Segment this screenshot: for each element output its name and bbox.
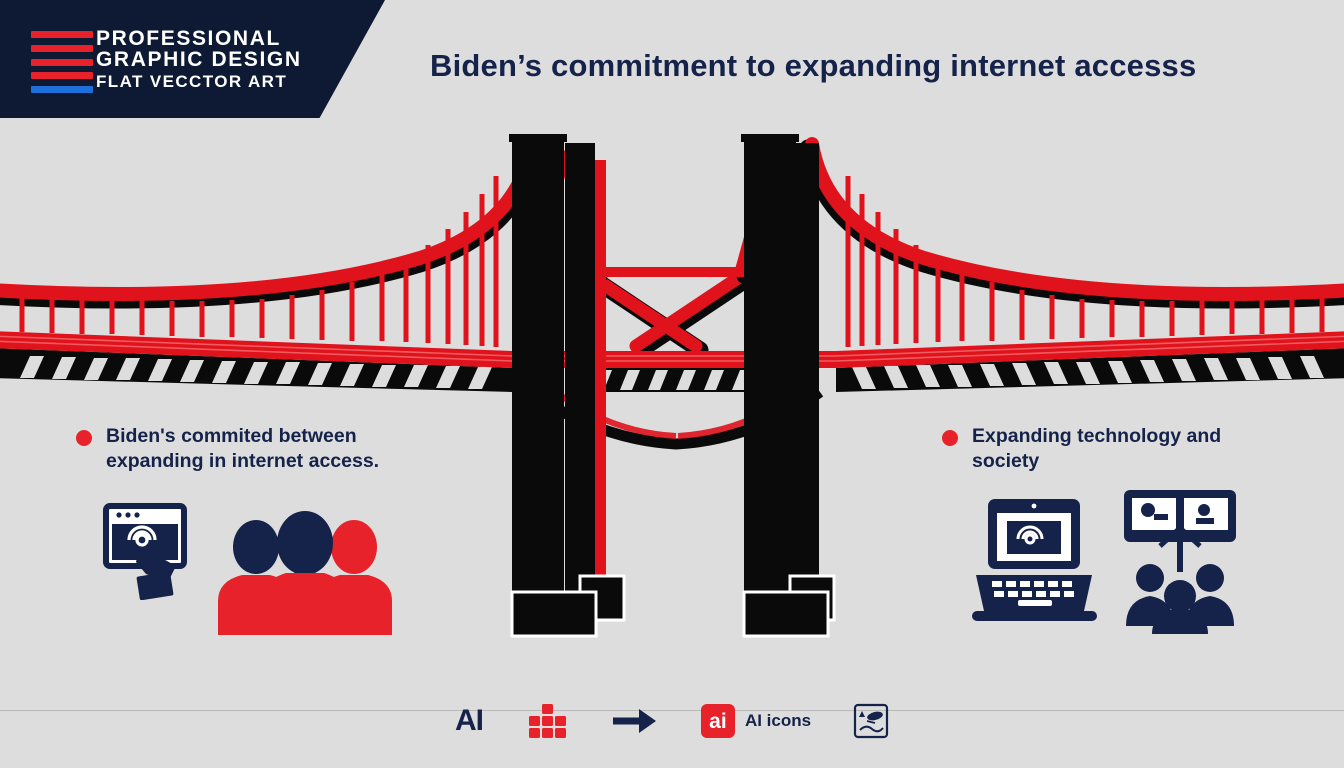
footer-sketch bbox=[853, 703, 889, 739]
bullet-left-text: Biden's commited between expanding in in… bbox=[106, 424, 436, 474]
cable-right bbox=[812, 144, 1344, 294]
tower-left-main bbox=[512, 134, 564, 622]
bullet-right-text: Expanding technology and society bbox=[972, 424, 1242, 474]
cable-left bbox=[0, 144, 532, 294]
browser-touch-hand-icon bbox=[102, 500, 198, 605]
ai-icons-label: AI icons bbox=[745, 711, 811, 731]
laptop-wifi-icon bbox=[972, 493, 1097, 633]
brand-bar-5 bbox=[31, 86, 93, 93]
brand-line-3: FLAT VECCTOR ART bbox=[96, 73, 302, 90]
brand-bars-logo bbox=[31, 31, 93, 93]
ai-badge-icon: ai bbox=[701, 704, 735, 738]
people-group-icon bbox=[212, 505, 397, 640]
cable-shadow-right bbox=[808, 148, 1344, 300]
bullet-dot-icon bbox=[76, 430, 92, 446]
bullet-dot-icon bbox=[942, 430, 958, 446]
presentation-audience-icon bbox=[1120, 484, 1240, 639]
footer-ai-logo: AI bbox=[455, 704, 483, 738]
brand-bar-4 bbox=[31, 72, 93, 79]
tower-right-main bbox=[744, 134, 796, 622]
infographic-canvas: PROFESSIONAL GRAPHIC DESIGN FLAT VECCTOR… bbox=[0, 0, 1344, 768]
footer-bar: AI ai AI icons bbox=[0, 690, 1344, 752]
footer-ai-icons-brand: ai AI icons bbox=[701, 704, 811, 738]
footer-arrow bbox=[611, 706, 659, 736]
footer-ai-word: AI bbox=[455, 704, 483, 738]
cable-shadow-left bbox=[0, 148, 536, 300]
brand-bar-2 bbox=[31, 45, 93, 52]
bullet-right: Expanding technology and society bbox=[942, 424, 1242, 474]
brand-line-2: GRAPHIC DESIGN bbox=[96, 49, 302, 70]
tower-left-red-leg-b bbox=[594, 160, 606, 618]
sketch-frame-icon bbox=[853, 703, 889, 739]
brand-bar-3 bbox=[31, 59, 93, 66]
brand-banner: PROFESSIONAL GRAPHIC DESIGN FLAT VECCTOR… bbox=[0, 0, 385, 118]
brand-line-1: PROFESSIONAL bbox=[96, 28, 302, 49]
brand-text-block: PROFESSIONAL GRAPHIC DESIGN FLAT VECCTOR… bbox=[96, 28, 302, 90]
bullet-left: Biden's commited between expanding in in… bbox=[76, 424, 436, 474]
tower-left-shadow bbox=[565, 143, 595, 621]
brand-bar-1 bbox=[31, 31, 93, 38]
footer-blocks bbox=[525, 703, 569, 739]
arrow-right-icon bbox=[611, 706, 659, 736]
red-blocks-pyramid-icon bbox=[525, 703, 569, 739]
